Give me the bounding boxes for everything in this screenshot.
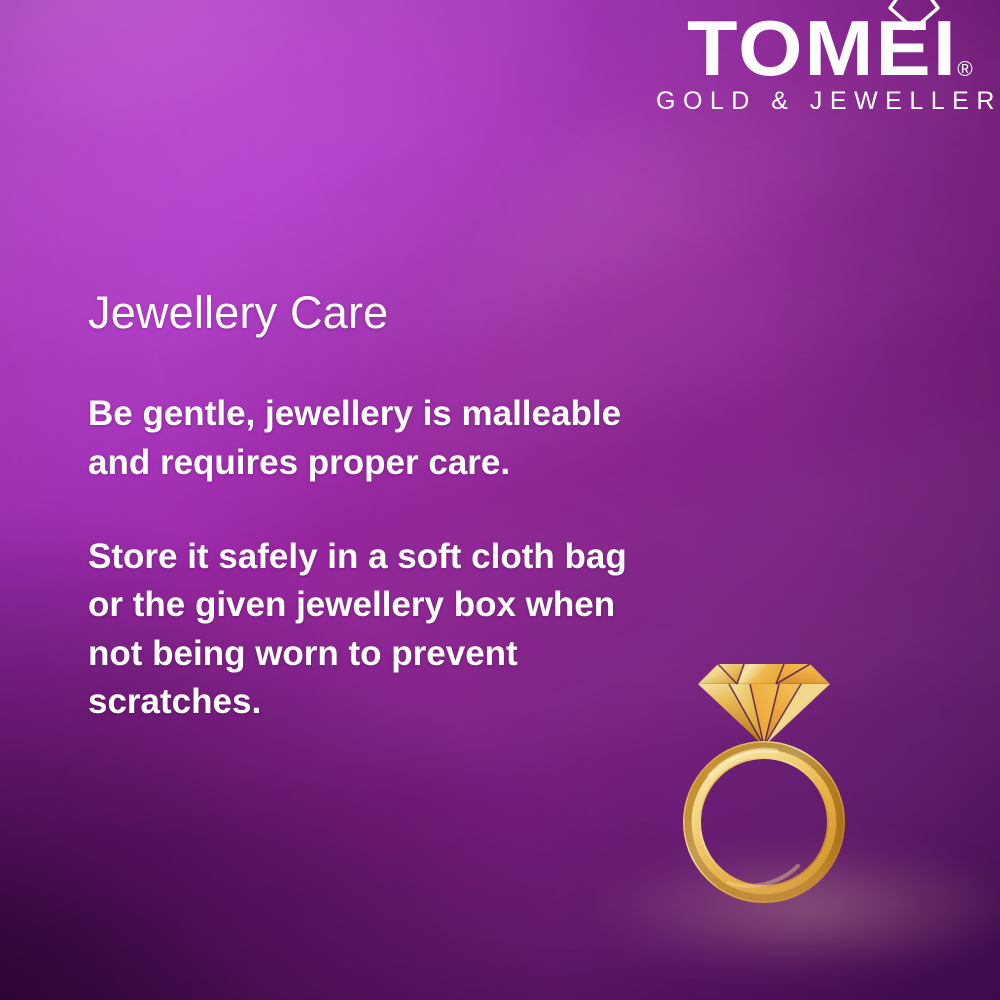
copy-block: Jewellery Care Be gentle, jewellery is m… <box>88 288 668 726</box>
diamond-outline-icon <box>887 0 941 32</box>
diamond-gem-icon <box>698 664 830 746</box>
logo-wordmark-group: TOMEI ® <box>687 10 943 86</box>
ring-band-icon <box>688 746 840 898</box>
care-paragraph-2: Store it safely in a soft cloth bag or t… <box>88 533 668 726</box>
diamond-ring-illustration <box>680 628 910 928</box>
registered-trademark-icon: ® <box>957 59 972 80</box>
jewellery-care-graphic: TOMEI ® GOLD & JEWELLERY Jewellery Care … <box>0 0 1000 1000</box>
diamond-ring-svg <box>680 628 910 928</box>
care-paragraph-1: Be gentle, jewellery is malleable and re… <box>88 390 668 487</box>
tomei-logo: TOMEI ® GOLD & JEWELLERY <box>650 10 980 116</box>
page-title: Jewellery Care <box>88 288 668 338</box>
